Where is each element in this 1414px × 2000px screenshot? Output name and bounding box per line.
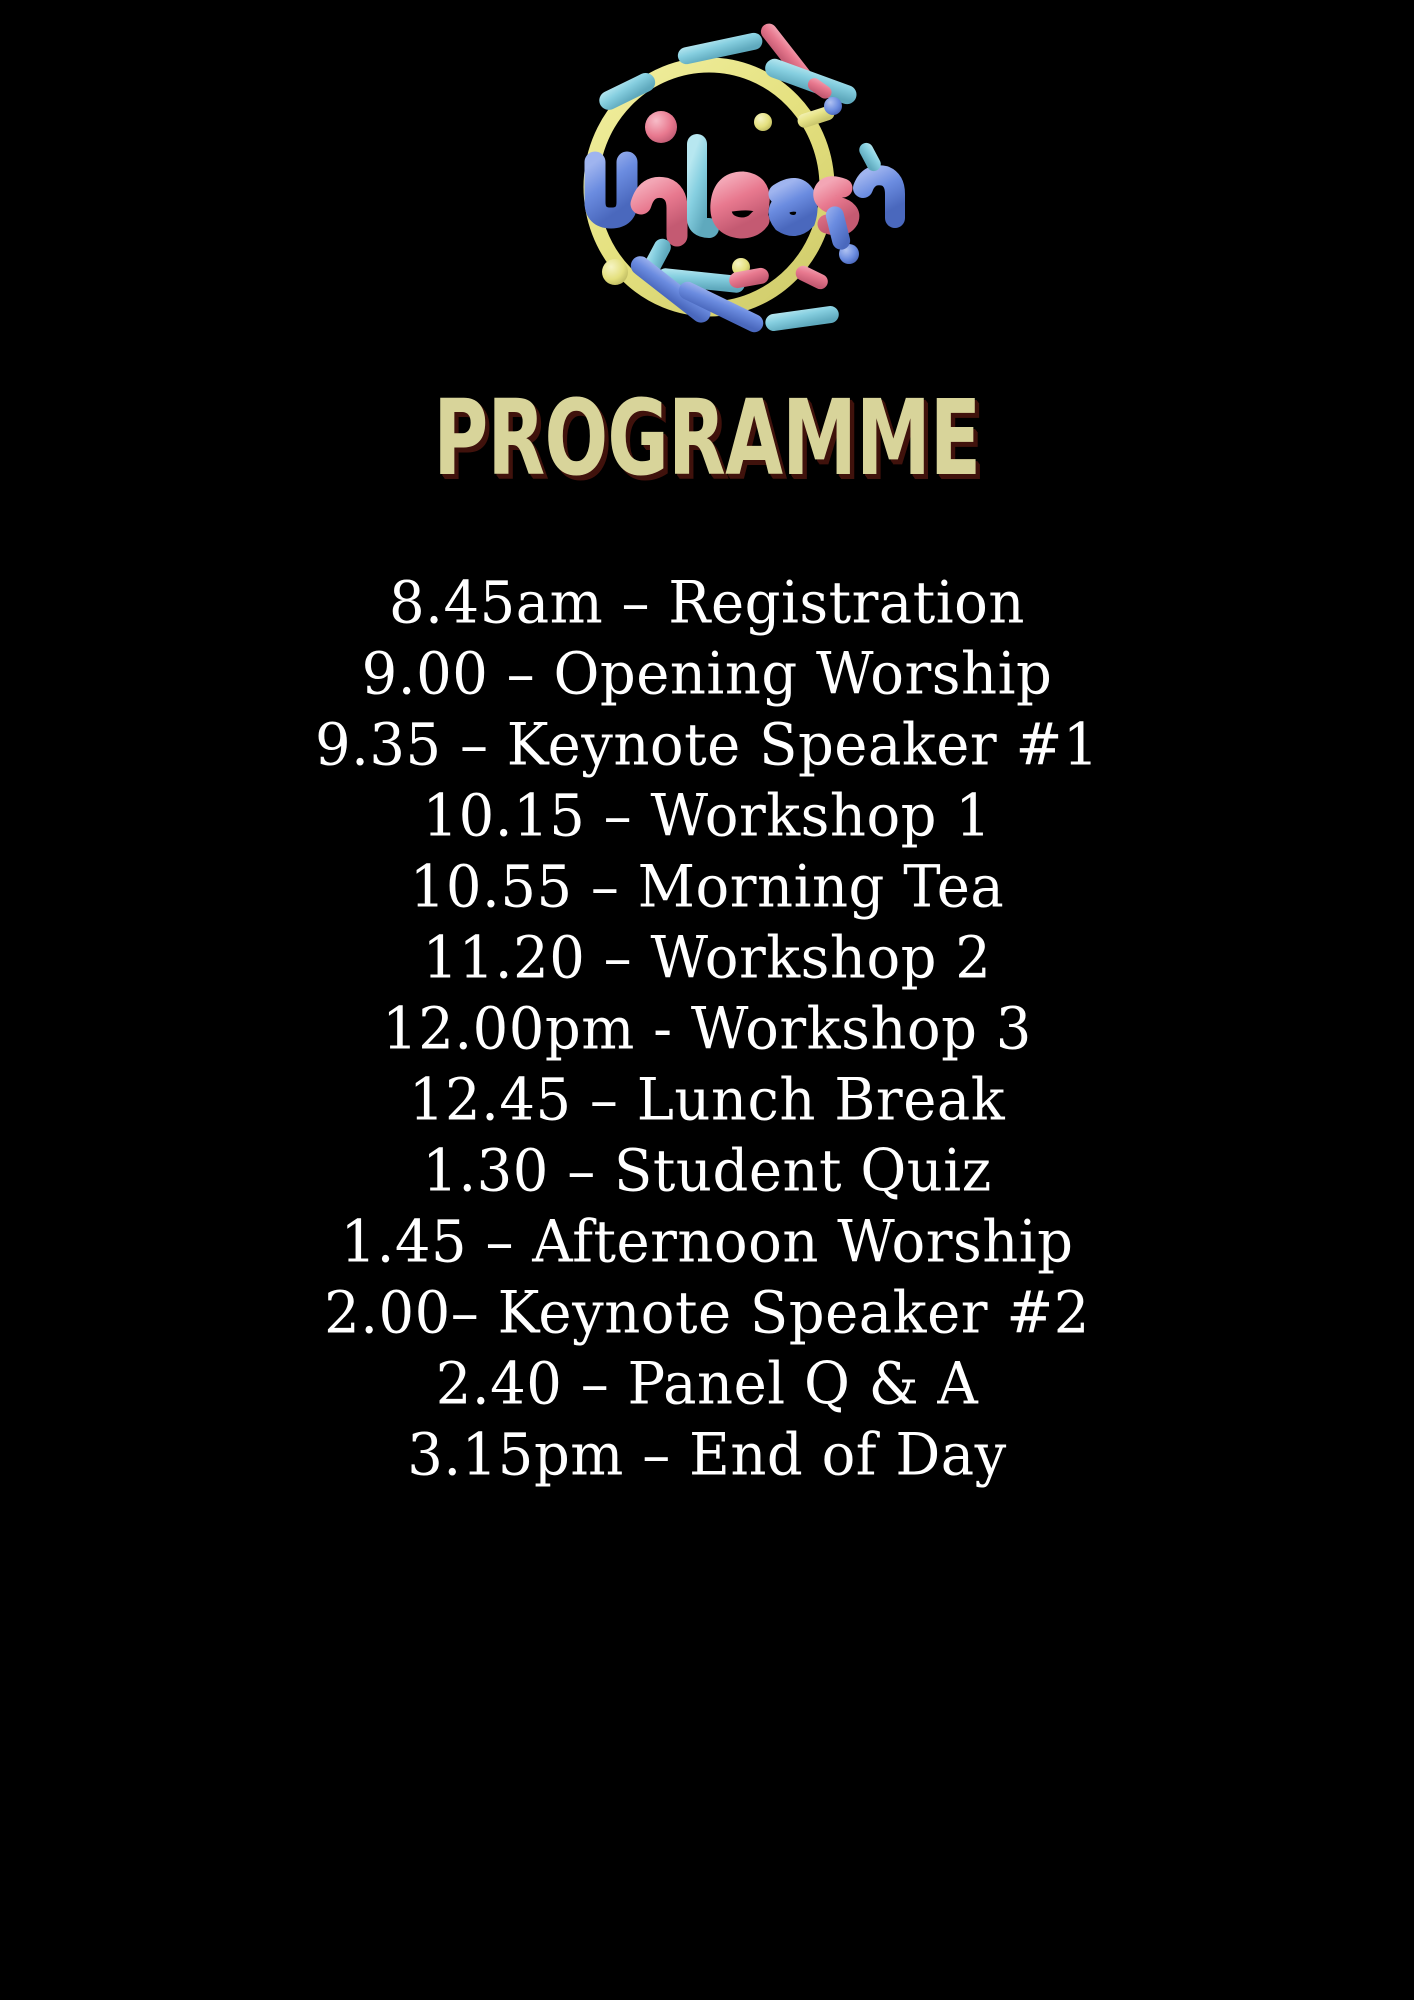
page-title: PROGRAMME [434, 386, 981, 490]
confetti-ball-blue [824, 97, 842, 115]
page-title-block: PROGRAMME [0, 386, 1414, 490]
programme-poster: PROGRAMME 8.45am – Registration 9.00 – O… [0, 0, 1414, 2000]
schedule-item: 2.00– Keynote Speaker #2 [324, 1277, 1090, 1351]
schedule-item: 12.45 – Lunch Break [409, 1064, 1005, 1138]
confetti-ball-pink [645, 111, 677, 143]
logo-letter-n [641, 187, 677, 237]
schedule-item: 8.45am – Registration [389, 567, 1025, 641]
logo-letter-a [779, 188, 807, 225]
schedule-item: 9.35 – Keynote Speaker #1 [315, 709, 1099, 783]
logo-wordmark [595, 134, 895, 237]
confetti-ball-yellow-3 [602, 259, 628, 285]
logo-letter-u [595, 162, 627, 222]
schedule-item: 11.20 – Workshop 2 [423, 922, 992, 996]
schedule-item: 12.00pm - Workshop 3 [382, 993, 1032, 1067]
schedule-item: 1.30 – Student Quiz [422, 1135, 991, 1209]
logo-letter-e [721, 182, 759, 228]
confetti-ball-yellow [754, 113, 772, 131]
unleash-logo-graphic [497, 22, 917, 352]
logo-confetti-back [596, 22, 859, 130]
schedule-item: 10.55 – Morning Tea [410, 851, 1004, 925]
schedule-item: 1.45 – Afternoon Worship [340, 1206, 1073, 1280]
schedule-item: 2.40 – Panel Q & A [436, 1348, 979, 1422]
unleash-logo [497, 22, 917, 352]
schedule-item: 9.00 – Opening Worship [362, 638, 1053, 712]
schedule-list: 8.45am – Registration 9.00 – Opening Wor… [0, 568, 1414, 1491]
schedule-item: 10.15 – Workshop 1 [423, 780, 992, 854]
logo-letter-l [697, 144, 709, 228]
schedule-item: 3.15pm – End of Day [407, 1419, 1007, 1493]
